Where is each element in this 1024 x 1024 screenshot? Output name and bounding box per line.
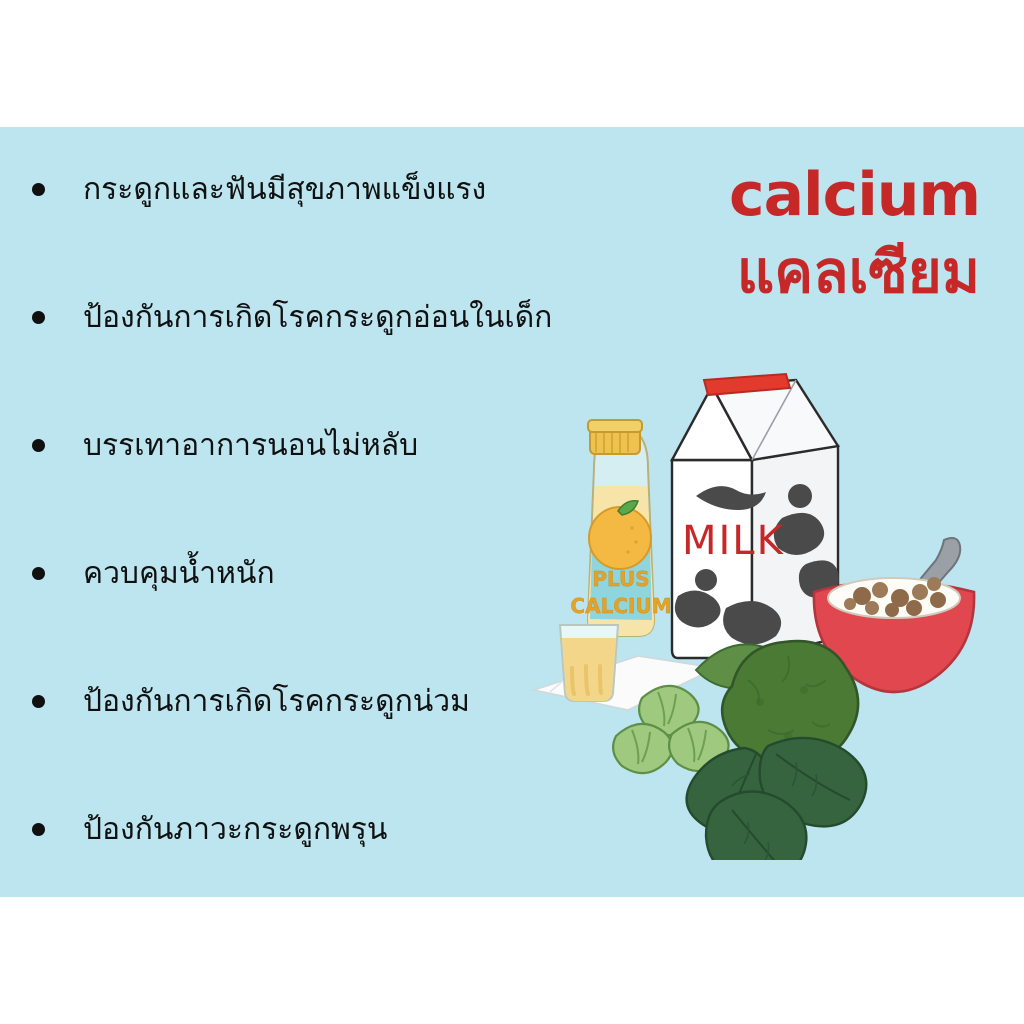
milk-carton-icon: MILK xyxy=(672,374,839,658)
bullet-dot-icon xyxy=(32,695,45,708)
list-item-label: ป้องกันการเกิดโรคกระดูกอ่อนในเด็ก xyxy=(83,298,552,338)
list-item-label: ควบคุมน้ำหนัก xyxy=(83,554,275,594)
list-item-label: ป้องกันภาวะกระดูกพรุน xyxy=(83,810,387,850)
bullet-dot-icon xyxy=(32,823,45,836)
milk-carton-label: MILK xyxy=(682,518,785,564)
list-item: กระดูกและฟันมีสุขภาพแข็งแรง xyxy=(18,170,678,298)
bullet-dot-icon xyxy=(32,311,45,324)
bullet-dot-icon xyxy=(32,439,45,452)
slide-canvas: calcium แคลเซียม กระดูกและฟันมีสุขภาพแข็… xyxy=(0,0,1024,1024)
juice-glass-icon xyxy=(560,625,618,701)
list-item-label: กระดูกและฟันมีสุขภาพแข็งแรง xyxy=(83,170,486,210)
list-item-label: บรรเทาอาการนอนไม่หลับ xyxy=(83,426,418,466)
list-item-label: ป้องกันการเกิดโรคกระดูกน่วม xyxy=(83,682,470,722)
bullet-dot-icon xyxy=(32,183,45,196)
bottle-label-line2: CALCIUM xyxy=(570,594,671,618)
juice-bottle-icon: PLUS CALCIUM xyxy=(570,420,671,636)
bullet-dot-icon xyxy=(32,567,45,580)
bottle-label-line1: PLUS xyxy=(592,567,649,591)
calcium-foods-illustration: PLUS CALCIUM xyxy=(520,350,1010,860)
